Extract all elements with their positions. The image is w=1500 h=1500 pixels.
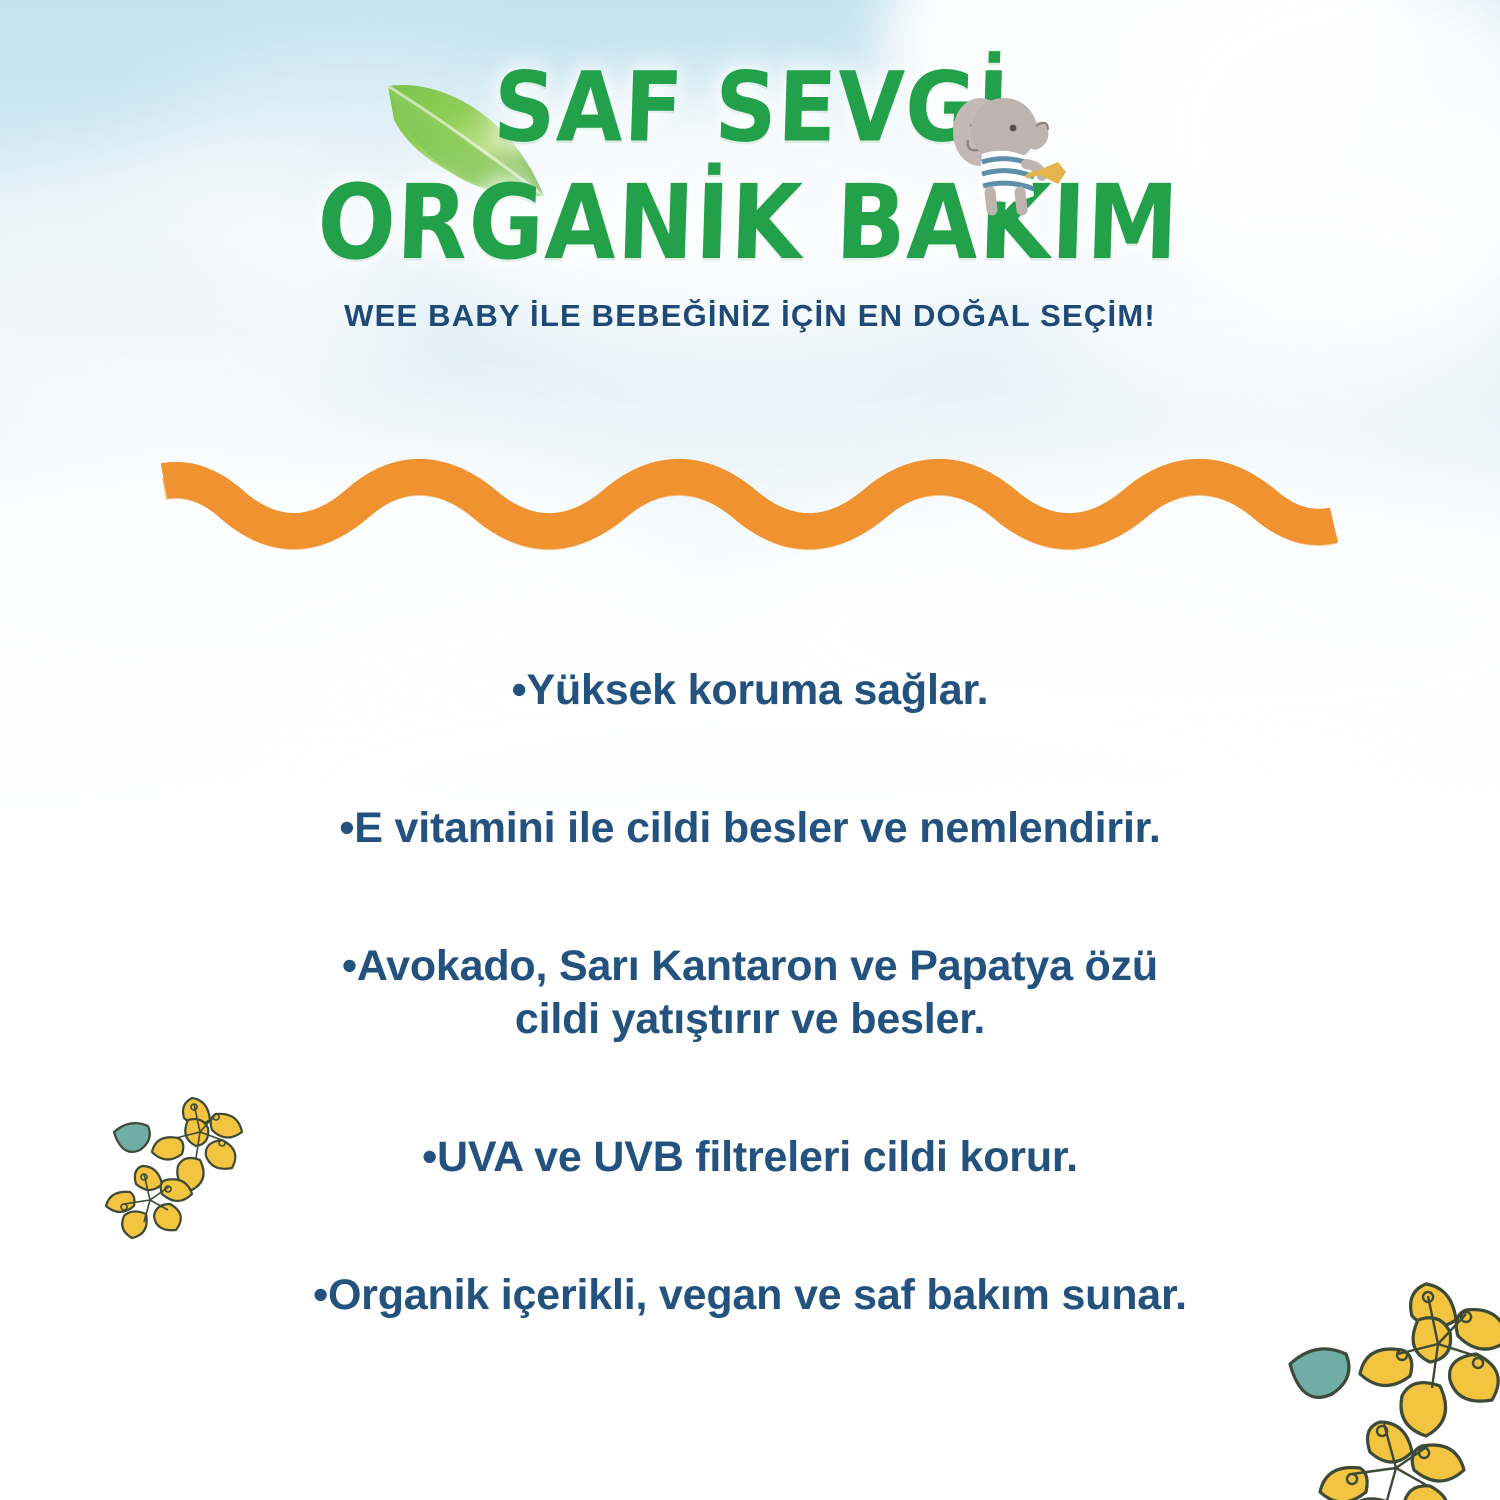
elephant-icon [942,88,1070,220]
orange-wave-divider [160,455,1345,555]
list-item: •E vitamini ile cildi besler ve nemlendi… [0,750,1500,855]
list-item-text: Organik içerikli, vegan ve saf bakım sun… [328,1271,1187,1319]
list-item-text: UVA ve UVB filtreleri cildi korur. [437,1133,1078,1181]
headline-line-1: SAF SEVGİ, [0,60,1500,156]
flower-icon [1276,1272,1500,1500]
bullet-icon: • [339,804,354,852]
headline-line-2: ORGANİK BAKIM [0,172,1500,275]
list-item-text: Yüksek koruma sağlar. [526,666,988,714]
list-item: •Avokado, Sarı Kantaron ve Papatya özü c… [0,888,1500,1045]
list-item: •Yüksek koruma sağlar. [0,612,1500,717]
headline-block: SAF SEVGİ, ORGANİK BAKIM [0,60,1500,264]
bullet-icon: • [313,1271,328,1319]
bullet-icon: • [342,942,357,990]
list-item-text: E vitamini ile cildi besler ve nemlendir… [354,804,1160,852]
bullet-icon: • [512,666,527,714]
list-item-text: Avokado, Sarı Kantaron ve Papatya özü ci… [357,942,1158,1042]
flower-icon [96,1088,272,1240]
promo-poster: SAF SEVGİ, ORGANİK BAKIM WEE BABY İLE BE… [0,0,1500,1500]
bullet-icon: • [422,1133,437,1181]
headline-subtitle: WEE BABY İLE BEBEĞİNİZ İÇİN EN DOĞAL SEÇ… [0,298,1500,334]
